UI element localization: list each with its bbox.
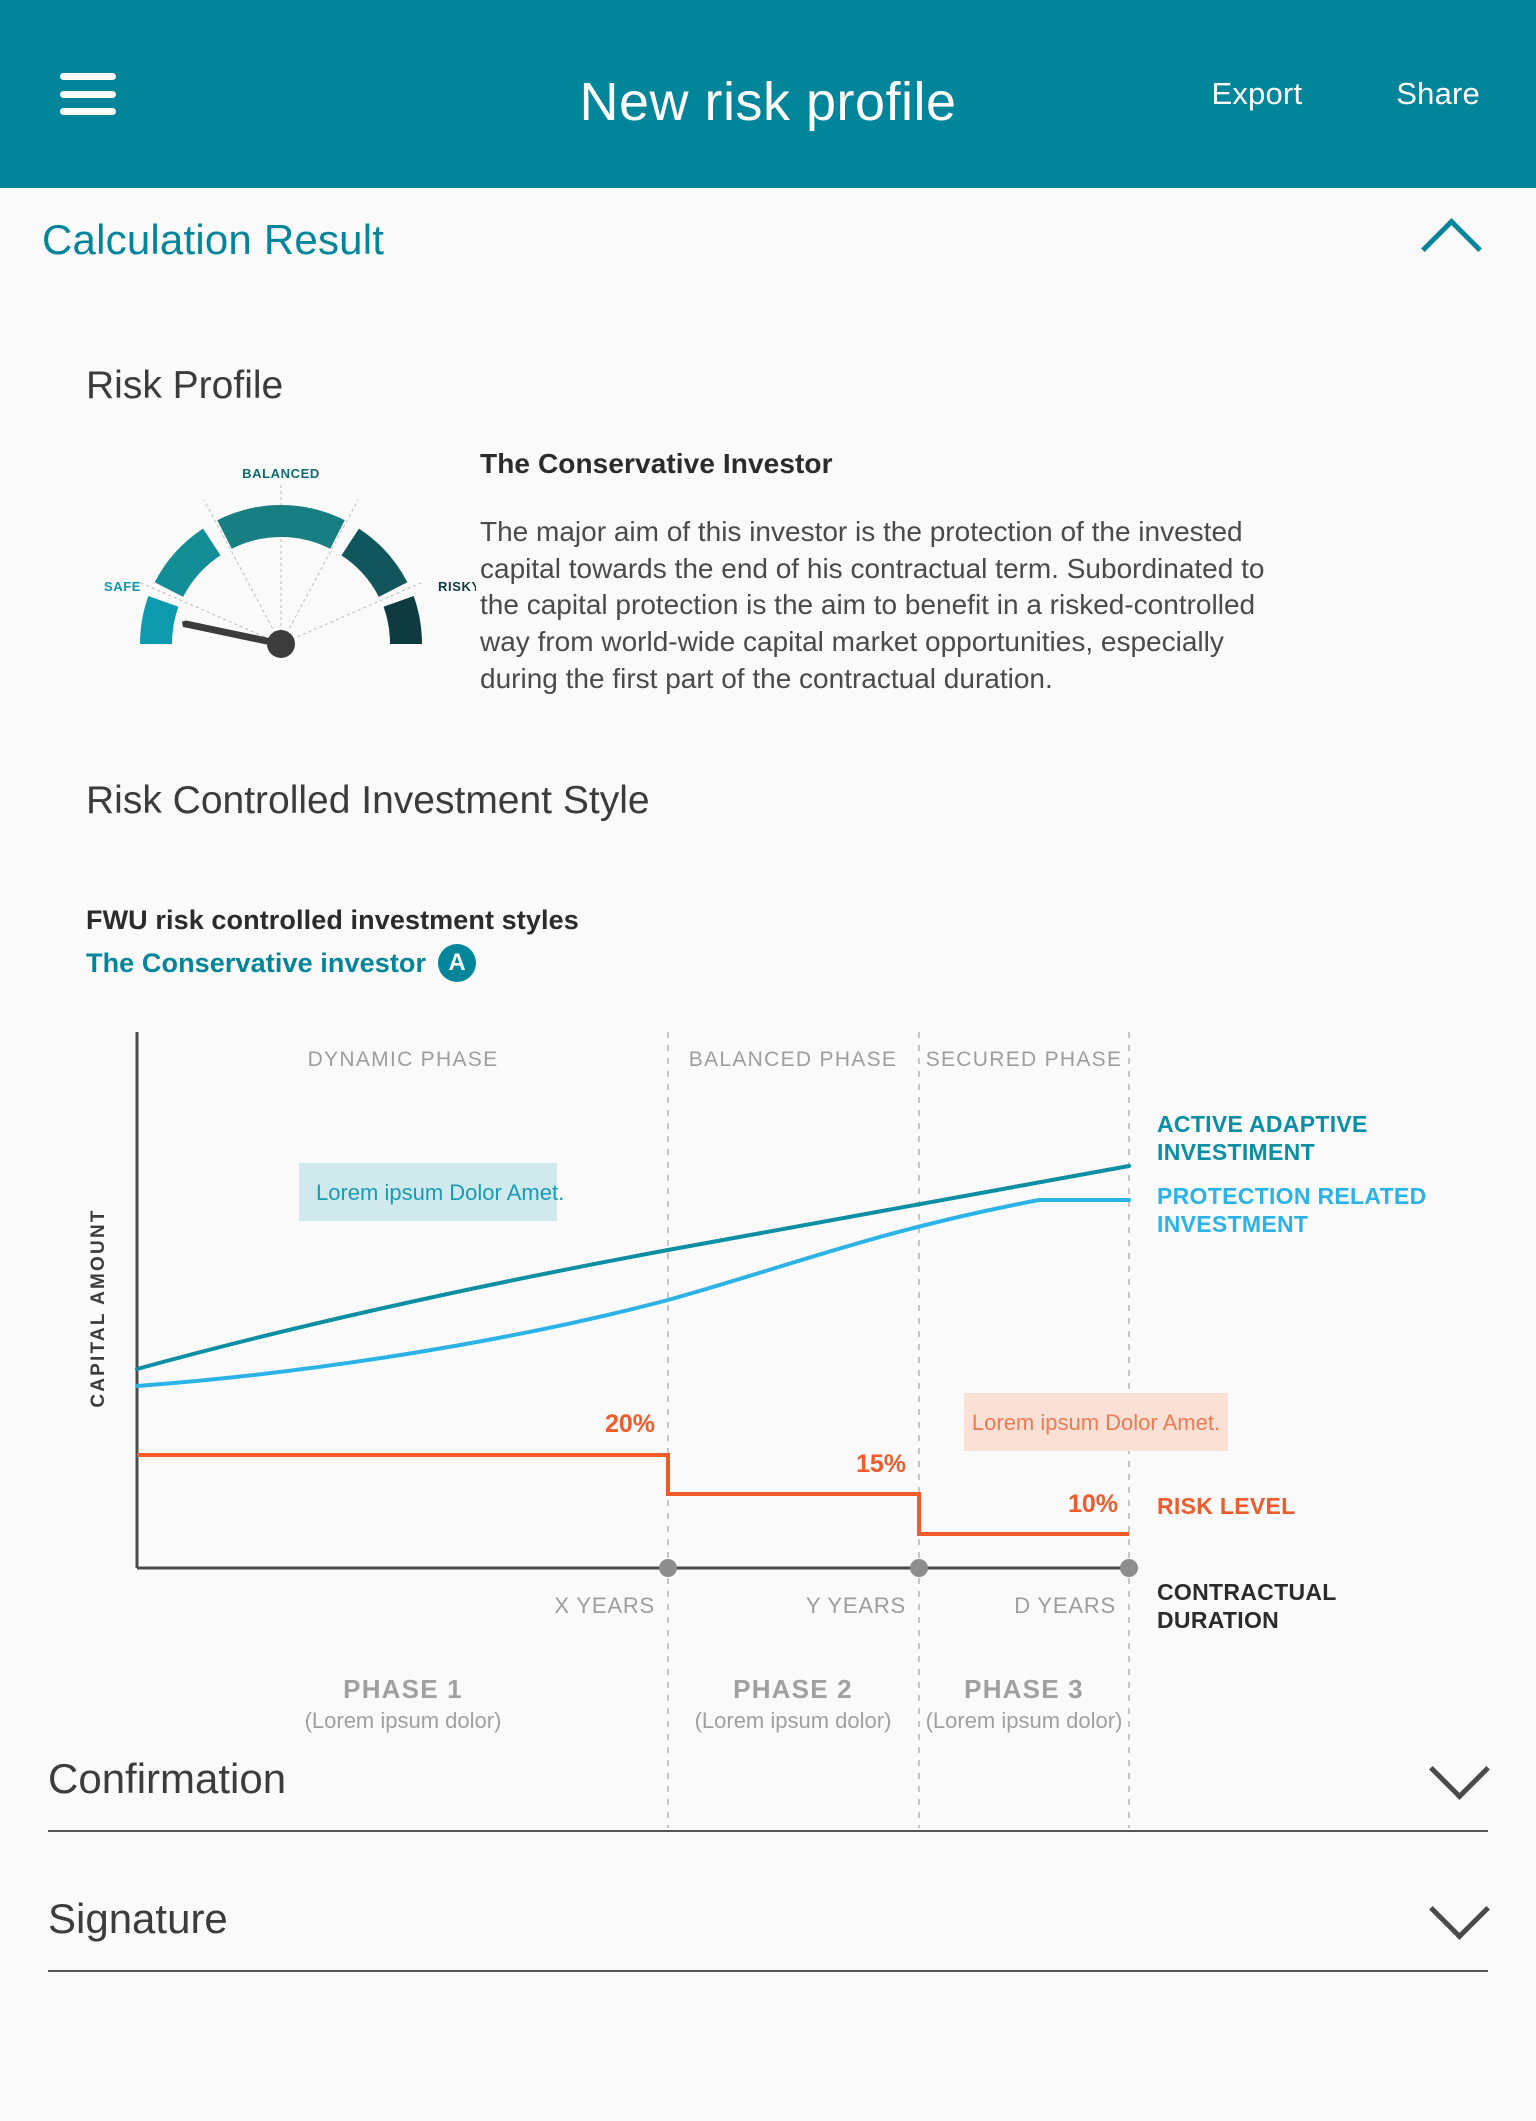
phase-sublabel-2: (Lorem ipsum dolor) [695, 1708, 892, 1733]
investment-style-chart: CAPITAL AMOUNT DYNAMIC PHASE BALANCED PH… [0, 1008, 1536, 1708]
phase-footer-2: PHASE 2 [733, 1674, 853, 1704]
phase-footer-3: PHASE 3 [964, 1674, 1084, 1704]
chart-caption: FWU risk controlled investment styles Th… [0, 823, 1536, 982]
gauge-hub [267, 630, 295, 658]
chart-svg: CAPITAL AMOUNT DYNAMIC PHASE BALANCED PH… [0, 1008, 1536, 1708]
y-axis-label: CAPITAL AMOUNT [88, 1209, 109, 1408]
accordion-calculation-result-label: Calculation Result [42, 216, 384, 264]
x-axis-label-line2: DURATION [1157, 1607, 1279, 1633]
page-body: Calculation Result Risk Profile [0, 188, 1536, 1972]
risk-profile-row: SAFE BALANCED RISKY The Conservative Inv… [0, 408, 1536, 697]
gauge-needle [182, 621, 295, 658]
investment-style-heading: Risk Controlled Investment Style [0, 697, 1536, 823]
chart-caption-line2: The Conservative investor A [86, 944, 1536, 982]
risk-level-label-15: 15% [856, 1450, 906, 1478]
gauge-label-risky: RISKY [438, 579, 476, 594]
gauge-label-balanced: BALANCED [242, 466, 320, 481]
gauge-segment-5 [399, 601, 406, 644]
chevron-down-icon[interactable] [1432, 1902, 1488, 1936]
gauge-label-safe: SAFE [104, 579, 141, 594]
x-tick-label-2: Y YEARS [806, 1593, 906, 1618]
gauge-segment-2 [169, 542, 212, 590]
gauge-segment-4 [350, 542, 393, 590]
risk-level-label-10: 10% [1068, 1490, 1118, 1518]
header-actions: Export Share [1211, 76, 1480, 112]
phase-sublabel-3: (Lorem ipsum dolor) [926, 1708, 1123, 1733]
accordion-signature-label: Signature [48, 1895, 228, 1943]
series-protection-related-line [137, 1200, 1129, 1386]
phase-sublabel-1: (Lorem ipsum dolor) [305, 1708, 502, 1733]
legend-risk-level: RISK LEVEL [1157, 1493, 1295, 1519]
investor-description-block: The Conservative Investor The major aim … [480, 442, 1390, 697]
chevron-up-icon[interactable] [1424, 223, 1480, 257]
chevron-down-icon[interactable] [1432, 1762, 1488, 1796]
risk-profile-heading: Risk Profile [0, 292, 1536, 408]
share-button[interactable]: Share [1396, 76, 1480, 112]
app-header: New risk profile Export Share [0, 0, 1536, 188]
chart-caption-line2-text: The Conservative investor [86, 948, 426, 979]
export-button[interactable]: Export [1211, 76, 1302, 112]
gauge-segment-1 [156, 601, 163, 644]
phase-band-label-1: DYNAMIC PHASE [308, 1048, 499, 1071]
tooltip-dynamic: Lorem ipsum Dolor Amet. [299, 1163, 564, 1221]
tooltip-secured: Lorem ipsum Dolor Amet. [964, 1393, 1228, 1451]
chart-caption-line1: FWU risk controlled investment styles [86, 905, 1536, 936]
risk-gauge: SAFE BALANCED RISKY [0, 442, 480, 697]
accordion-signature[interactable]: Signature [48, 1868, 1488, 1972]
phase-footer-1: PHASE 1 [343, 1674, 463, 1704]
investor-description: The major aim of this investor is the pr… [480, 514, 1280, 697]
x-tick-dot-3 [1120, 1559, 1138, 1577]
phase-band-label-3: SECURED PHASE [926, 1048, 1123, 1071]
legend-protection-related-line1: PROTECTION RELATED [1157, 1183, 1426, 1209]
risk-gauge-svg: SAFE BALANCED RISKY [86, 462, 476, 677]
x-tick-label-1: X YEARS [554, 1593, 655, 1618]
tooltip-secured-text: Lorem ipsum Dolor Amet. [972, 1410, 1220, 1435]
risk-level-label-20: 20% [605, 1410, 655, 1438]
investor-title: The Conservative Investor [480, 448, 1280, 480]
investor-grade-badge: A [438, 944, 476, 982]
x-tick-dot-2 [910, 1559, 928, 1577]
legend-protection-related-line2: INVESTMENT [1157, 1211, 1308, 1237]
legend-active-adaptive-line2: INVESTIMENT [1157, 1139, 1315, 1165]
series-risk-level-line [137, 1455, 1129, 1534]
chart-footer-svg: (Lorem ipsum dolor) (Lorem ipsum dolor) … [0, 1708, 1536, 1828]
accordion-calculation-result[interactable]: Calculation Result [0, 188, 1536, 292]
legend-active-adaptive-line1: ACTIVE ADAPTIVE [1157, 1111, 1368, 1137]
phase-band-label-2: BALANCED PHASE [689, 1048, 897, 1071]
tooltip-dynamic-text: Lorem ipsum Dolor Amet. [316, 1180, 564, 1205]
x-tick-label-3: D YEARS [1014, 1593, 1116, 1618]
gauge-segment-3 [225, 521, 338, 534]
x-tick-dot-1 [659, 1559, 677, 1577]
x-axis-label-line1: CONTRACTUAL [1157, 1579, 1337, 1605]
series-active-adaptive-line [137, 1166, 1129, 1369]
